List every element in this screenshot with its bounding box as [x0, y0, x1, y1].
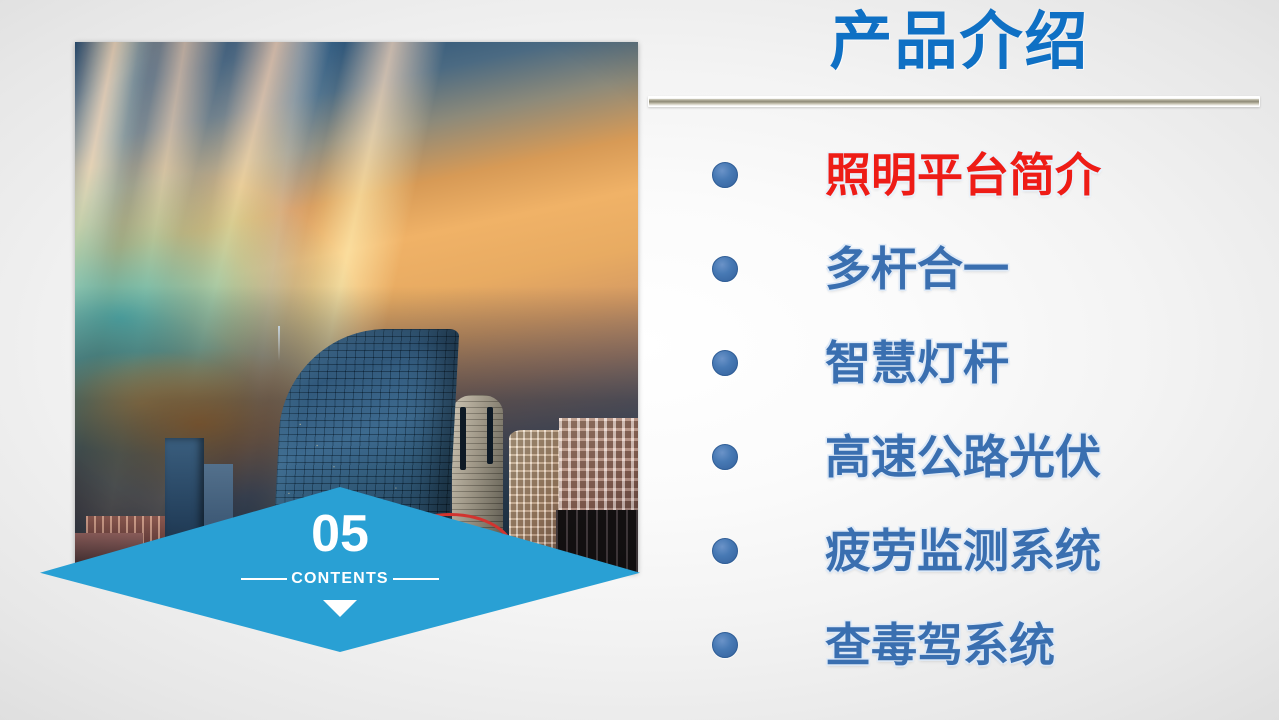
contents-badge: 05 CONTENTS: [40, 487, 640, 652]
list-item[interactable]: 查毒驾系统: [640, 598, 1279, 692]
list-item-label: 高速公路光伏: [825, 434, 1101, 480]
list-item[interactable]: 多杆合一: [640, 222, 1279, 316]
presentation-slide: 05 CONTENTS 产品介绍 照明平台简介 多杆合一 智慧灯: [0, 0, 1279, 720]
bullet-dot-icon: [712, 256, 738, 282]
list-item-label: 多杆合一: [825, 246, 1009, 292]
agenda-list: 照明平台简介 多杆合一 智慧灯杆 高速公路光伏 疲劳监测系统 查毒驾系统: [640, 128, 1279, 692]
list-item-label: 智慧灯杆: [825, 340, 1009, 386]
list-item[interactable]: 照明平台简介: [640, 128, 1279, 222]
page-title: 产品介绍: [640, 8, 1279, 77]
list-item-label: 疲劳监测系统: [825, 528, 1101, 574]
bullet-dot-icon: [712, 350, 738, 376]
bullet-dot-icon: [712, 538, 738, 564]
bullet-dot-icon: [712, 162, 738, 188]
list-item[interactable]: 高速公路光伏: [640, 410, 1279, 504]
list-item[interactable]: 疲劳监测系统: [640, 504, 1279, 598]
contents-diamond-shape: [40, 487, 640, 652]
right-column: 产品介绍 照明平台简介 多杆合一 智慧灯杆 高速公路光伏 疲劳监测系统: [640, 0, 1279, 720]
bullet-dot-icon: [712, 444, 738, 470]
list-item-label: 照明平台简介: [825, 152, 1101, 198]
title-divider: [648, 96, 1260, 107]
list-item[interactable]: 智慧灯杆: [640, 316, 1279, 410]
bullet-dot-icon: [712, 632, 738, 658]
list-item-label: 查毒驾系统: [825, 622, 1055, 668]
